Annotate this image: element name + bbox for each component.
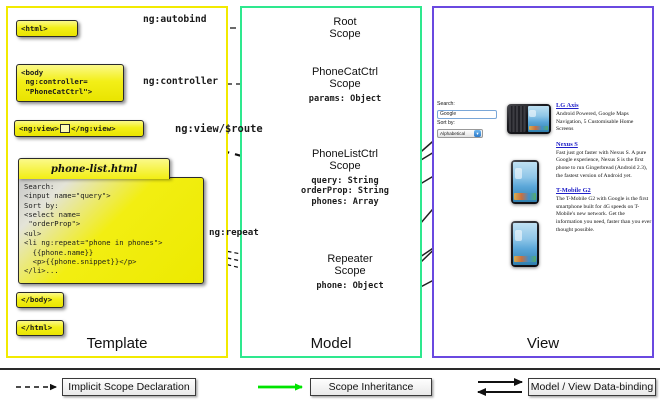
browser-search-form: Search: Sort by: Alphabetical ▾ <box>437 101 499 138</box>
ngview-close-tag: </ng:view> <box>71 124 116 133</box>
legend-item-implicit-scope-declaration: Implicit Scope Declaration <box>62 378 196 396</box>
callout-title: phone-list.html <box>18 158 170 179</box>
panel-model: Model <box>240 6 422 358</box>
phone-device-nexus-s <box>511 160 539 204</box>
chevron-down-icon: ▾ <box>474 130 481 137</box>
diagram-canvas: Template Model View <html> <body ng:cont… <box>0 0 660 405</box>
edge-label-ng-repeat: ng:repeat <box>209 227 259 238</box>
phone-description: Fast just got faster with Nexus S. A pur… <box>556 150 652 180</box>
code-tag-html-close: </html> <box>16 320 64 336</box>
phone-name-link[interactable]: LG Axis <box>556 102 652 109</box>
search-label: Search: <box>437 101 499 109</box>
list-item: T-Mobile G2 The T-Mobile G2 with Google … <box>556 187 652 234</box>
device-screen <box>513 223 537 265</box>
phone-list: LG Axis Android Powered, Google Maps Nav… <box>556 102 652 241</box>
phone-device-lg-axis <box>507 104 551 134</box>
ngview-open-tag: <ng:view> <box>19 124 59 133</box>
device-keyboard <box>509 106 526 132</box>
device-body <box>511 160 539 204</box>
list-item: Nexus S Fast just got faster with Nexus … <box>556 141 652 180</box>
edge-label-ng-controller: ng:controller <box>143 76 218 87</box>
code-tag-html: <html> <box>16 20 78 37</box>
sort-by-label: Sort by: <box>437 120 499 128</box>
search-input[interactable] <box>437 110 497 119</box>
panel-title-view: View <box>434 335 652 352</box>
code-tag-body-close: </body> <box>16 292 64 308</box>
edge-label-ng-autobind: ng:autobind <box>143 14 207 25</box>
code-tag-ngview: <ng:view></ng:view> <box>14 120 144 137</box>
legend-item-data-binding: Model / View Data-binding <box>528 378 656 396</box>
device-screen <box>528 106 549 132</box>
device-body <box>507 104 551 134</box>
sort-by-select[interactable]: Alphabetical ▾ <box>437 129 483 138</box>
legend-glyph-double <box>478 382 522 392</box>
device-body <box>511 221 539 267</box>
panel-title-model: Model <box>242 335 420 352</box>
phone-list-callout: phone-list.html Search: <input name="que… <box>18 158 208 286</box>
callout-code-block: Search: <input name="query"> Sort by: <s… <box>18 177 204 284</box>
list-item: LG Axis Android Powered, Google Maps Nav… <box>556 102 652 134</box>
phone-device-tmobile-g2 <box>511 221 539 267</box>
phone-name-link[interactable]: T-Mobile G2 <box>556 187 652 194</box>
code-tag-body: <body ng:controller= "PhoneCatCtrl"> <box>16 64 124 102</box>
legend-divider <box>0 368 660 370</box>
phone-description: The T-Mobile G2 with Google is the first… <box>556 196 652 234</box>
phone-description: Android Powered, Google Maps Navigation,… <box>556 111 652 134</box>
device-screen <box>513 162 537 202</box>
sort-by-selected-value: Alphabetical <box>440 131 465 136</box>
phone-name-link[interactable]: Nexus S <box>556 141 652 148</box>
ngview-placeholder-box <box>60 124 70 133</box>
edge-label-ng-view-route: ng:view/$route <box>175 123 263 135</box>
panel-title-template: Template <box>8 335 226 352</box>
legend-item-scope-inheritance: Scope Inheritance <box>310 378 432 396</box>
